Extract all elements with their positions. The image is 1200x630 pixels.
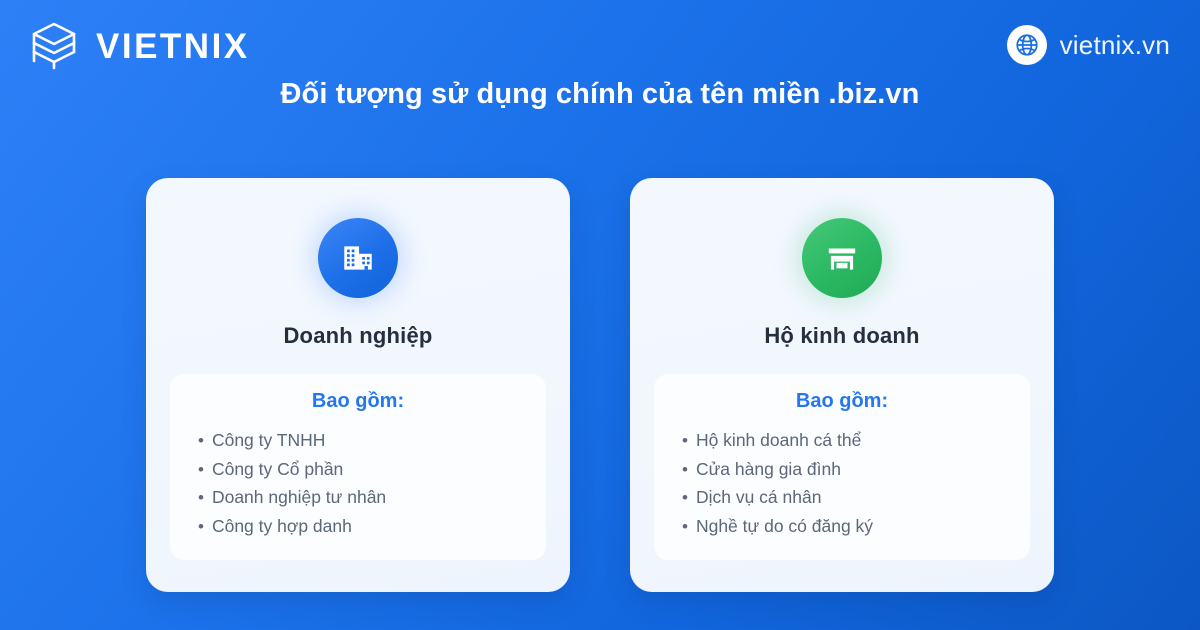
includes-panel: Bao gồm: • Công ty TNHH • Công ty Cổ phầ… (170, 374, 546, 560)
list-item: • Dịch vụ cá nhân (682, 483, 1030, 512)
bullet-icon: • (198, 489, 204, 506)
office-building-icon (318, 218, 398, 298)
page-title: Đối tượng sử dụng chính của tên miền .bi… (0, 78, 1200, 111)
card-title: Hộ kinh doanh (764, 323, 919, 349)
site-url-text: vietnix.vn (1060, 32, 1170, 58)
storefront-icon (802, 218, 882, 298)
list-item: • Hộ kinh doanh cá thể (682, 426, 1030, 455)
includes-list: • Công ty TNHH • Công ty Cổ phần • Doanh… (170, 426, 546, 540)
bullet-icon: • (198, 461, 204, 478)
bullet-icon: • (682, 461, 688, 478)
includes-heading: Bao gồm: (170, 390, 546, 413)
list-item: • Doanh nghiệp tư nhân (198, 483, 546, 512)
includes-heading: Bao gồm: (654, 390, 1030, 413)
list-item-label: Công ty hợp danh (212, 512, 352, 541)
bullet-icon: • (682, 489, 688, 506)
bullet-icon: • (198, 432, 204, 449)
brand-logo-text: VIETNIX (96, 29, 250, 64)
card-title: Doanh nghiệp (283, 323, 432, 349)
site-url-badge[interactable]: vietnix.vn (1007, 25, 1170, 65)
bullet-icon: • (198, 518, 204, 535)
bullet-icon: • (682, 518, 688, 535)
list-item: • Công ty TNHH (198, 426, 546, 455)
card-doanh-nghiep: Doanh nghiệp Bao gồm: • Công ty TNHH • C… (146, 178, 570, 592)
includes-panel: Bao gồm: • Hộ kinh doanh cá thể • Cửa hà… (654, 374, 1030, 560)
list-item: • Cửa hàng gia đình (682, 455, 1030, 484)
card-ho-kinh-doanh: Hộ kinh doanh Bao gồm: • Hộ kinh doanh c… (630, 178, 1054, 592)
includes-list: • Hộ kinh doanh cá thể • Cửa hàng gia đì… (654, 426, 1030, 540)
bullet-icon: • (682, 432, 688, 449)
list-item-label: Cửa hàng gia đình (696, 455, 841, 484)
list-item-label: Công ty Cổ phần (212, 455, 343, 484)
list-item-label: Hộ kinh doanh cá thể (696, 426, 861, 455)
brand-logo[interactable]: VIETNIX (26, 18, 250, 74)
list-item-label: Doanh nghiệp tư nhân (212, 483, 386, 512)
list-item: • Nghề tự do có đăng ký (682, 512, 1030, 541)
list-item: • Công ty hợp danh (198, 512, 546, 541)
list-item-label: Công ty TNHH (212, 426, 325, 455)
card-group: Doanh nghiệp Bao gồm: • Công ty TNHH • C… (146, 178, 1054, 592)
stacked-layers-icon (26, 18, 82, 74)
globe-icon (1007, 25, 1047, 65)
list-item: • Công ty Cổ phần (198, 455, 546, 484)
list-item-label: Dịch vụ cá nhân (696, 483, 822, 512)
list-item-label: Nghề tự do có đăng ký (696, 512, 873, 541)
